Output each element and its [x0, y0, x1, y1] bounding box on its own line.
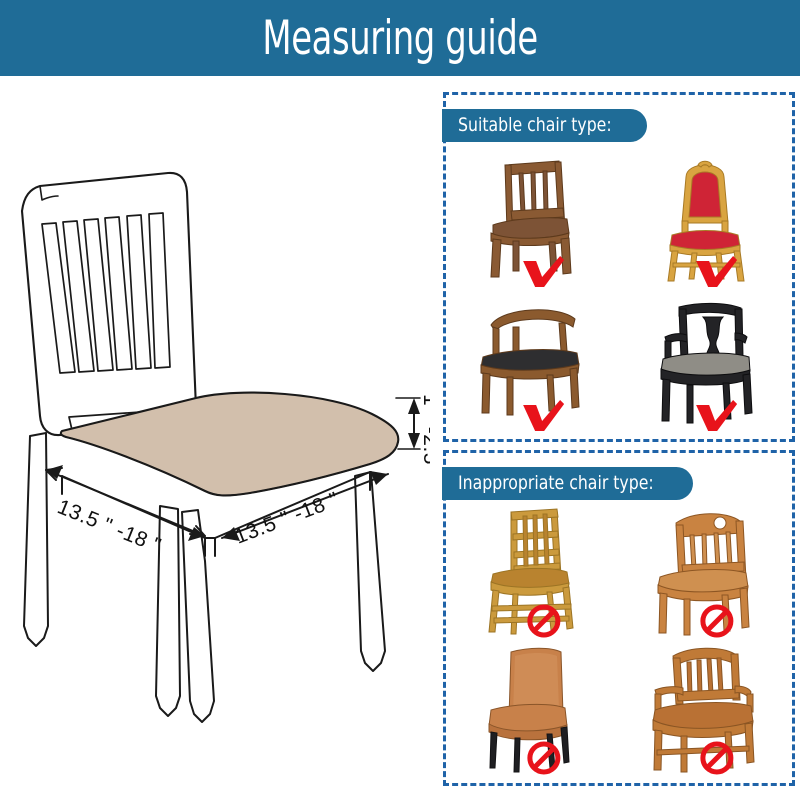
suitable-chair-badge-label: Suitable chair type: — [458, 116, 612, 135]
inappropriate-chair-badge-label: Inappropriate chair type: — [458, 474, 654, 493]
chair-photo-black-arm-chair — [619, 291, 792, 435]
inappropriate-chair-badge: Inappropriate chair type: — [442, 467, 693, 500]
dimension-label-cushion-thickness: 1 " -2.5 " — [419, 394, 430, 479]
chair-photo-light-wood-slat-chair — [619, 505, 792, 642]
dimension-label-seat-width: 13.5 " -18 " — [54, 495, 164, 557]
red-check-mark-icon — [520, 255, 566, 289]
measurement-diagram: 13.5 " -18 " 13.5 " -18 " 1 " -2.5 " — [0, 76, 430, 800]
chair-photo-curved-back-chair — [446, 291, 619, 435]
page-title: Measuring guide — [262, 15, 537, 62]
red-check-mark-icon — [693, 255, 739, 289]
inappropriate-chair-panel: Inappropriate chair type: — [443, 450, 795, 786]
chair-photo-wood-slat-dining-chair — [446, 147, 619, 291]
chair-photo-gold-chiavari-chair — [446, 505, 619, 642]
prohibition-sign-icon — [526, 741, 560, 775]
inappropriate-chair-grid — [446, 505, 792, 779]
chair-photo-wood-spindle-armchair — [619, 642, 792, 779]
red-check-mark-icon — [693, 399, 739, 433]
dimension-label-seat-depth: 13.5 " -18 " — [232, 488, 343, 549]
page-header-banner: Measuring guide — [0, 0, 800, 76]
chair-line-drawing: 13.5 " -18 " 13.5 " -18 " 1 " -2.5 " — [0, 76, 430, 800]
suitable-chair-badge: Suitable chair type: — [442, 109, 647, 142]
red-check-mark-icon — [520, 399, 566, 433]
chair-photo-red-banquet-chair — [619, 147, 792, 291]
prohibition-sign-icon — [699, 604, 733, 638]
suitable-chair-panel: Suitable chair type: — [443, 92, 795, 442]
prohibition-sign-icon — [699, 741, 733, 775]
measuring-guide-page: Measuring guide — [0, 0, 800, 800]
suitable-chair-grid — [446, 147, 792, 435]
chair-photo-tan-parsons-chair — [446, 642, 619, 779]
prohibition-sign-icon — [526, 604, 560, 638]
